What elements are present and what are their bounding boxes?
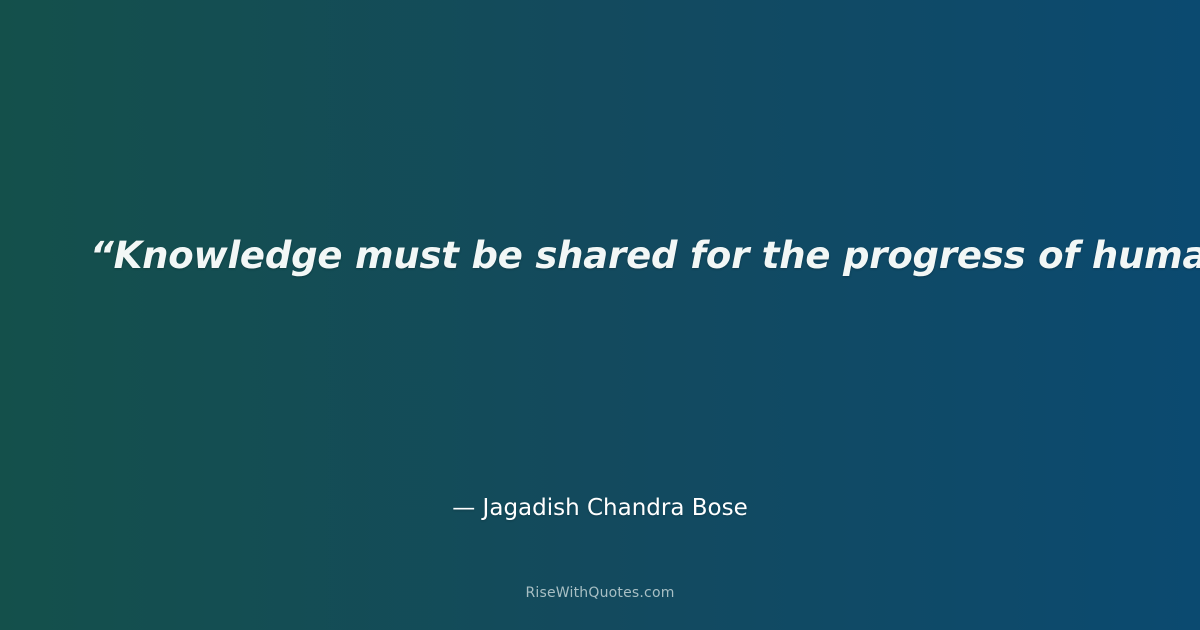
quote-card: “Knowledge must be shared for the progre…: [0, 0, 1200, 630]
footer-brand: RiseWithQuotes.com: [0, 585, 1200, 601]
quote-text: “Knowledge must be shared for the progre…: [0, 232, 1200, 280]
quote-attribution: — Jagadish Chandra Bose: [0, 494, 1200, 524]
